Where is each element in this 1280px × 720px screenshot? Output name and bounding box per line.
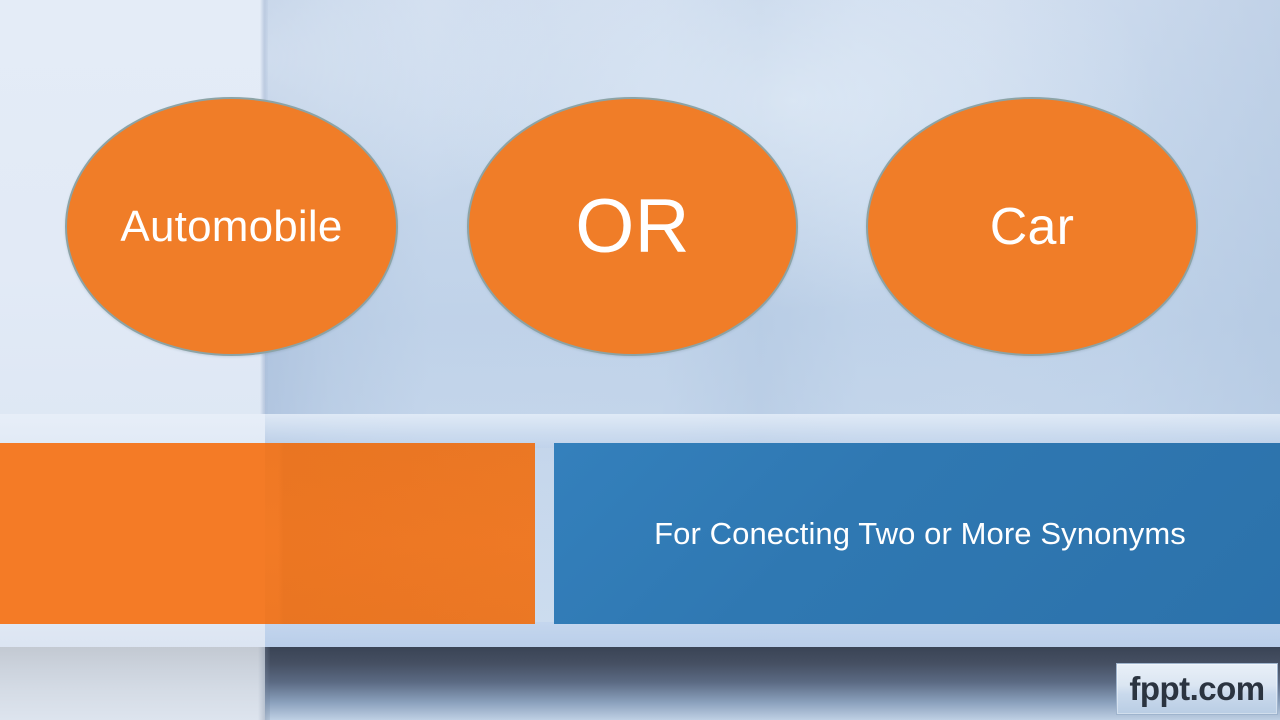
background-floor-seam xyxy=(258,647,270,720)
watermark-label: fppt.com xyxy=(1129,672,1264,705)
ellipse-label-automobile: Automobile xyxy=(120,205,342,249)
slide-canvas: Automobile OR Car For Conecting Two or M… xyxy=(0,0,1280,720)
orange-accent-bar-shading xyxy=(265,443,535,624)
ellipse-shape-automobile[interactable]: Automobile xyxy=(65,97,398,356)
background-lower-ledge-left xyxy=(0,622,265,650)
ellipse-shape-or[interactable]: OR xyxy=(467,97,798,356)
ellipse-label-or: OR xyxy=(575,189,689,265)
ellipse-label-car: Car xyxy=(990,201,1074,253)
ellipse-shape-car[interactable]: Car xyxy=(866,97,1198,356)
background-floor-band-left xyxy=(0,647,265,720)
watermark-badge: fppt.com xyxy=(1116,663,1278,715)
caption-text: For Conecting Two or More Synonyms xyxy=(654,516,1186,552)
blue-caption-bar[interactable]: For Conecting Two or More Synonyms xyxy=(554,443,1280,624)
